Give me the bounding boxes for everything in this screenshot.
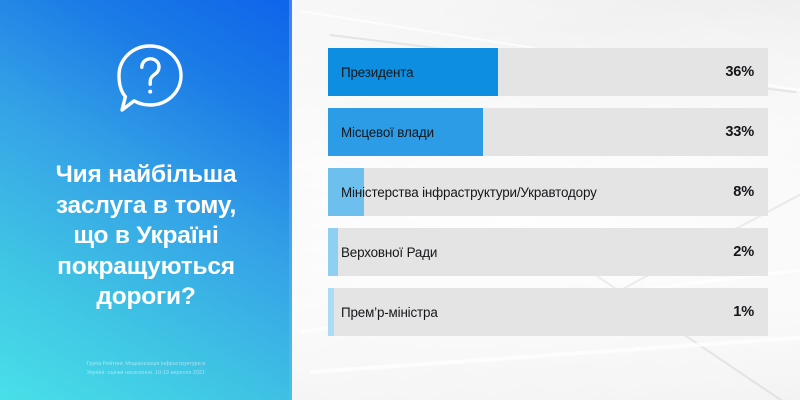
source-credit-line: Група Рейтинг. Модернізація інфраструкту… (24, 360, 268, 369)
source-credit-line: Україні: оцінки населення. 10-13 вересня… (24, 369, 268, 378)
left-gradient-panel: Чия найбільша заслуга в тому, що в Украї… (0, 0, 292, 400)
bar-label: Верховної Ради (341, 228, 437, 276)
headline-line: Чия найбільша (14, 160, 278, 191)
bar-label: Президента (341, 48, 413, 96)
bar-row: Міністерства інфраструктури/Укравтодору … (328, 168, 768, 216)
headline-line: що в Україні (14, 221, 278, 252)
headline: Чия найбільша заслуга в тому, що в Украї… (14, 160, 278, 313)
bar-value: 2% (733, 228, 754, 276)
bar-label: Міністерства інфраструктури/Укравтодору (341, 168, 597, 216)
bar-fill (328, 288, 334, 336)
bar-value: 1% (733, 288, 754, 336)
bar-row: Місцевої влади 33% (328, 108, 768, 156)
infographic-root: Чия найбільша заслуга в тому, що в Украї… (0, 0, 800, 400)
question-speech-bubble-icon (112, 40, 188, 122)
bar-label: Прем’р-міністра (341, 288, 438, 336)
bar-fill (328, 228, 338, 276)
bar-value: 33% (725, 108, 754, 156)
source-credit: Група Рейтинг. Модернізація інфраструкту… (24, 360, 268, 377)
bar-row: Президента 36% (328, 48, 768, 96)
panel-right-edge (289, 0, 292, 400)
headline-line: покращуються (14, 252, 278, 283)
headline-line: заслуга в тому, (14, 191, 278, 222)
bar-value: 8% (733, 168, 754, 216)
bar-row: Прем’р-міністра 1% (328, 288, 768, 336)
headline-line: дороги? (14, 282, 278, 313)
bar-value: 36% (725, 48, 754, 96)
bar-chart: Президента 36% Місцевої влади 33% Мініст… (328, 48, 768, 336)
bar-row: Верховної Ради 2% (328, 228, 768, 276)
bar-label: Місцевої влади (341, 108, 434, 156)
